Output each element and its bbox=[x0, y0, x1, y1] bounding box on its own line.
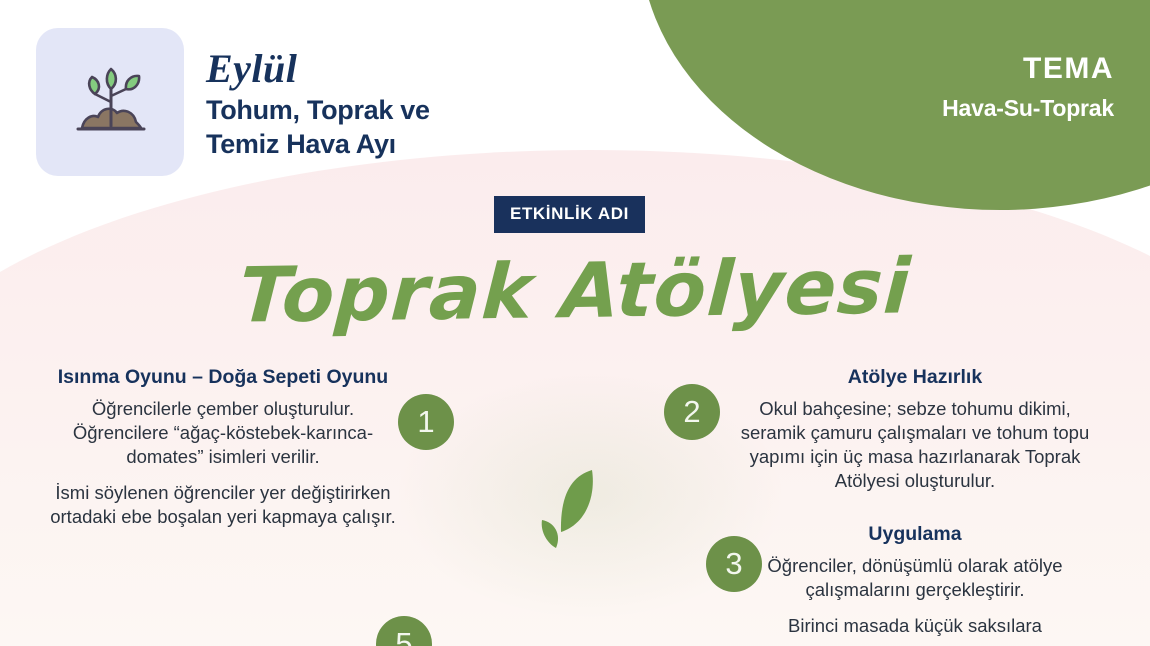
step-heading: Atölye Hazırlık bbox=[740, 366, 1090, 390]
month-subtitle-line2: Temiz Hava Ayı bbox=[206, 128, 430, 162]
month-header: Eylül Tohum, Toprak ve Temiz Hava Ayı bbox=[36, 28, 430, 176]
theme-block: TEMA Hava-Su-Toprak bbox=[942, 52, 1114, 122]
steps-column-right: Atölye Hazırlık Okul bahçesine; sebze to… bbox=[740, 366, 1090, 646]
theme-value: Hava-Su-Toprak bbox=[942, 95, 1114, 122]
month-subtitle: Tohum, Toprak ve Temiz Hava Ayı bbox=[206, 94, 430, 162]
step-number-2: 2 bbox=[664, 384, 720, 440]
step-paragraph: Birinci masada küçük saksılara bbox=[740, 614, 1090, 638]
seedling-icon bbox=[62, 52, 158, 153]
activity-title: Toprak Atölyesi bbox=[0, 238, 1150, 343]
month-subtitle-line1: Tohum, Toprak ve bbox=[206, 94, 430, 128]
steps-column-left: Isınma Oyunu – Doğa Sepeti Oyunu Öğrenci… bbox=[48, 366, 398, 551]
month-icon-box bbox=[36, 28, 184, 176]
activity-name-badge: ETKİNLİK ADI bbox=[494, 196, 645, 233]
center-sprout-icon bbox=[520, 466, 612, 611]
step-heading: Isınma Oyunu – Doğa Sepeti Oyunu bbox=[48, 366, 398, 390]
month-text: Eylül Tohum, Toprak ve Temiz Hava Ayı bbox=[206, 28, 430, 162]
month-name: Eylül bbox=[206, 48, 430, 90]
theme-label: TEMA bbox=[942, 52, 1114, 85]
step-item-3: Uygulama Öğrenciler, dönüşümlü olarak at… bbox=[740, 523, 1090, 638]
step-item-1: Isınma Oyunu – Doğa Sepeti Oyunu Öğrenci… bbox=[48, 366, 398, 529]
step-item-2: Atölye Hazırlık Okul bahçesine; sebze to… bbox=[740, 366, 1090, 493]
step-number-1: 1 bbox=[398, 394, 454, 450]
step-paragraph: Öğrenciler, dönüşümlü olarak atölye çalı… bbox=[740, 554, 1090, 602]
poster-canvas: Eylül Tohum, Toprak ve Temiz Hava Ayı TE… bbox=[0, 0, 1150, 646]
step-paragraph: Okul bahçesine; sebze tohumu dikimi, ser… bbox=[740, 397, 1090, 493]
step-paragraph: Öğrencilerle çember oluşturulur. Öğrenci… bbox=[48, 397, 398, 469]
step-paragraph: İsmi söylenen öğrenciler yer değiştirirk… bbox=[48, 481, 398, 529]
step-heading: Uygulama bbox=[740, 523, 1090, 547]
